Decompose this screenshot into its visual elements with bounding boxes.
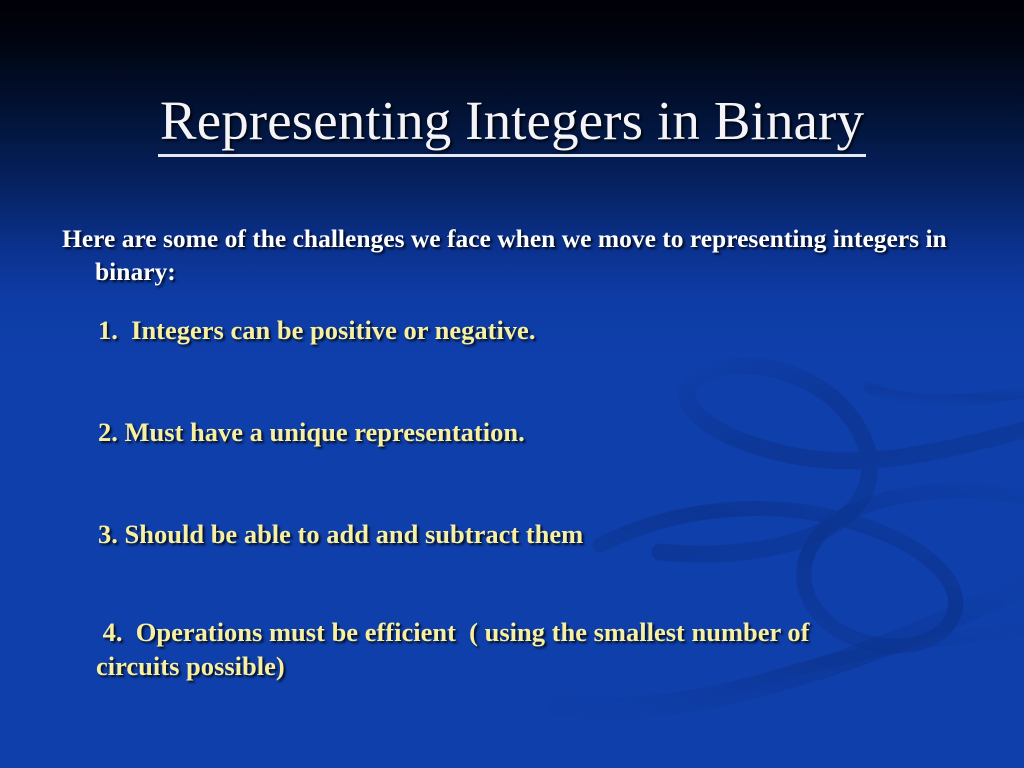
list-item: 4. Operations must be efficient ( using … <box>96 616 886 684</box>
page-title: Representing Integers in Binary <box>158 92 866 157</box>
slide-title-block: Representing Integers in Binary <box>0 55 1024 193</box>
intro-paragraph: Here are some of the challenges we face … <box>62 222 975 290</box>
slide-content: Here are some of the challenges we face … <box>0 196 1024 756</box>
list-item: 3. Should be able to add and subtract th… <box>98 518 978 552</box>
list-item: 2. Must have a unique representation. <box>98 416 978 450</box>
challenge-list: 1. Integers can be positive or negative.… <box>98 314 978 684</box>
presentation-slide: Representing Integers in Binary Here are… <box>0 0 1024 768</box>
list-item: 1. Integers can be positive or negative. <box>98 314 978 348</box>
